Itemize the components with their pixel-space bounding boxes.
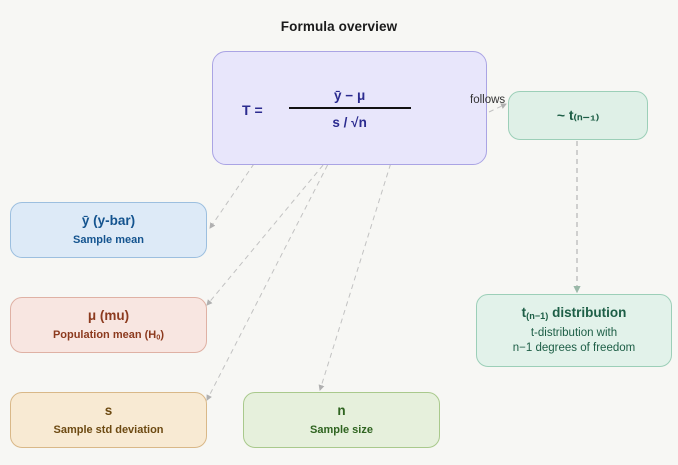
t-distribution-title: t(n−1) distribution — [522, 304, 627, 322]
t-distribution-title-tail: distribution — [548, 305, 626, 320]
fraction-denominator: s / √n — [332, 109, 366, 130]
t-distribution-subtitle-line1: t-distribution with — [531, 326, 617, 342]
mu-node[interactable]: μ (mu) Population mean (H0) — [10, 297, 207, 353]
ybar-subtitle: Sample mean — [73, 233, 144, 248]
formula-lhs: T = — [242, 102, 263, 118]
ybar-title: ȳ (y-bar) — [82, 212, 135, 230]
s-title: s — [105, 402, 113, 420]
ybar-node[interactable]: ȳ (y-bar) Sample mean — [10, 202, 207, 258]
s-subtitle: Sample std deviation — [53, 423, 163, 438]
n-title: n — [337, 402, 345, 420]
t-statistic-node[interactable]: ~ t₍ₙ₋₁₎ — [508, 91, 648, 140]
diagram-canvas: Formula overview T = ȳ − μ s / √n follow… — [0, 0, 678, 465]
n-subtitle: Sample size — [310, 423, 373, 438]
mu-title: μ (mu) — [88, 307, 129, 325]
t-distribution-subtitle-line2: n−1 degrees of freedom — [513, 341, 635, 357]
mu-subtitle-tail: ) — [160, 329, 164, 341]
s-node[interactable]: s Sample std deviation — [10, 392, 207, 448]
mu-subtitle: Population mean (H0) — [53, 328, 164, 343]
t-distribution-node[interactable]: t(n−1) distribution t-distribution with … — [476, 294, 672, 367]
page-title: Formula overview — [0, 19, 678, 34]
edge-formula-to-s — [207, 133, 344, 400]
formula-fraction: ȳ − μ s / √n — [289, 88, 411, 130]
n-node[interactable]: n Sample size — [243, 392, 440, 448]
t-statistic-title: ~ t₍ₙ₋₁₎ — [557, 106, 599, 125]
mu-subtitle-main: Population mean (H — [53, 329, 156, 341]
edge-label-follows: follows — [470, 94, 505, 106]
fraction-numerator: ȳ − μ — [334, 88, 365, 107]
t-distribution-title-subscript: (n−1) — [526, 311, 548, 321]
formula-node[interactable]: T = ȳ − μ s / √n — [212, 51, 487, 165]
